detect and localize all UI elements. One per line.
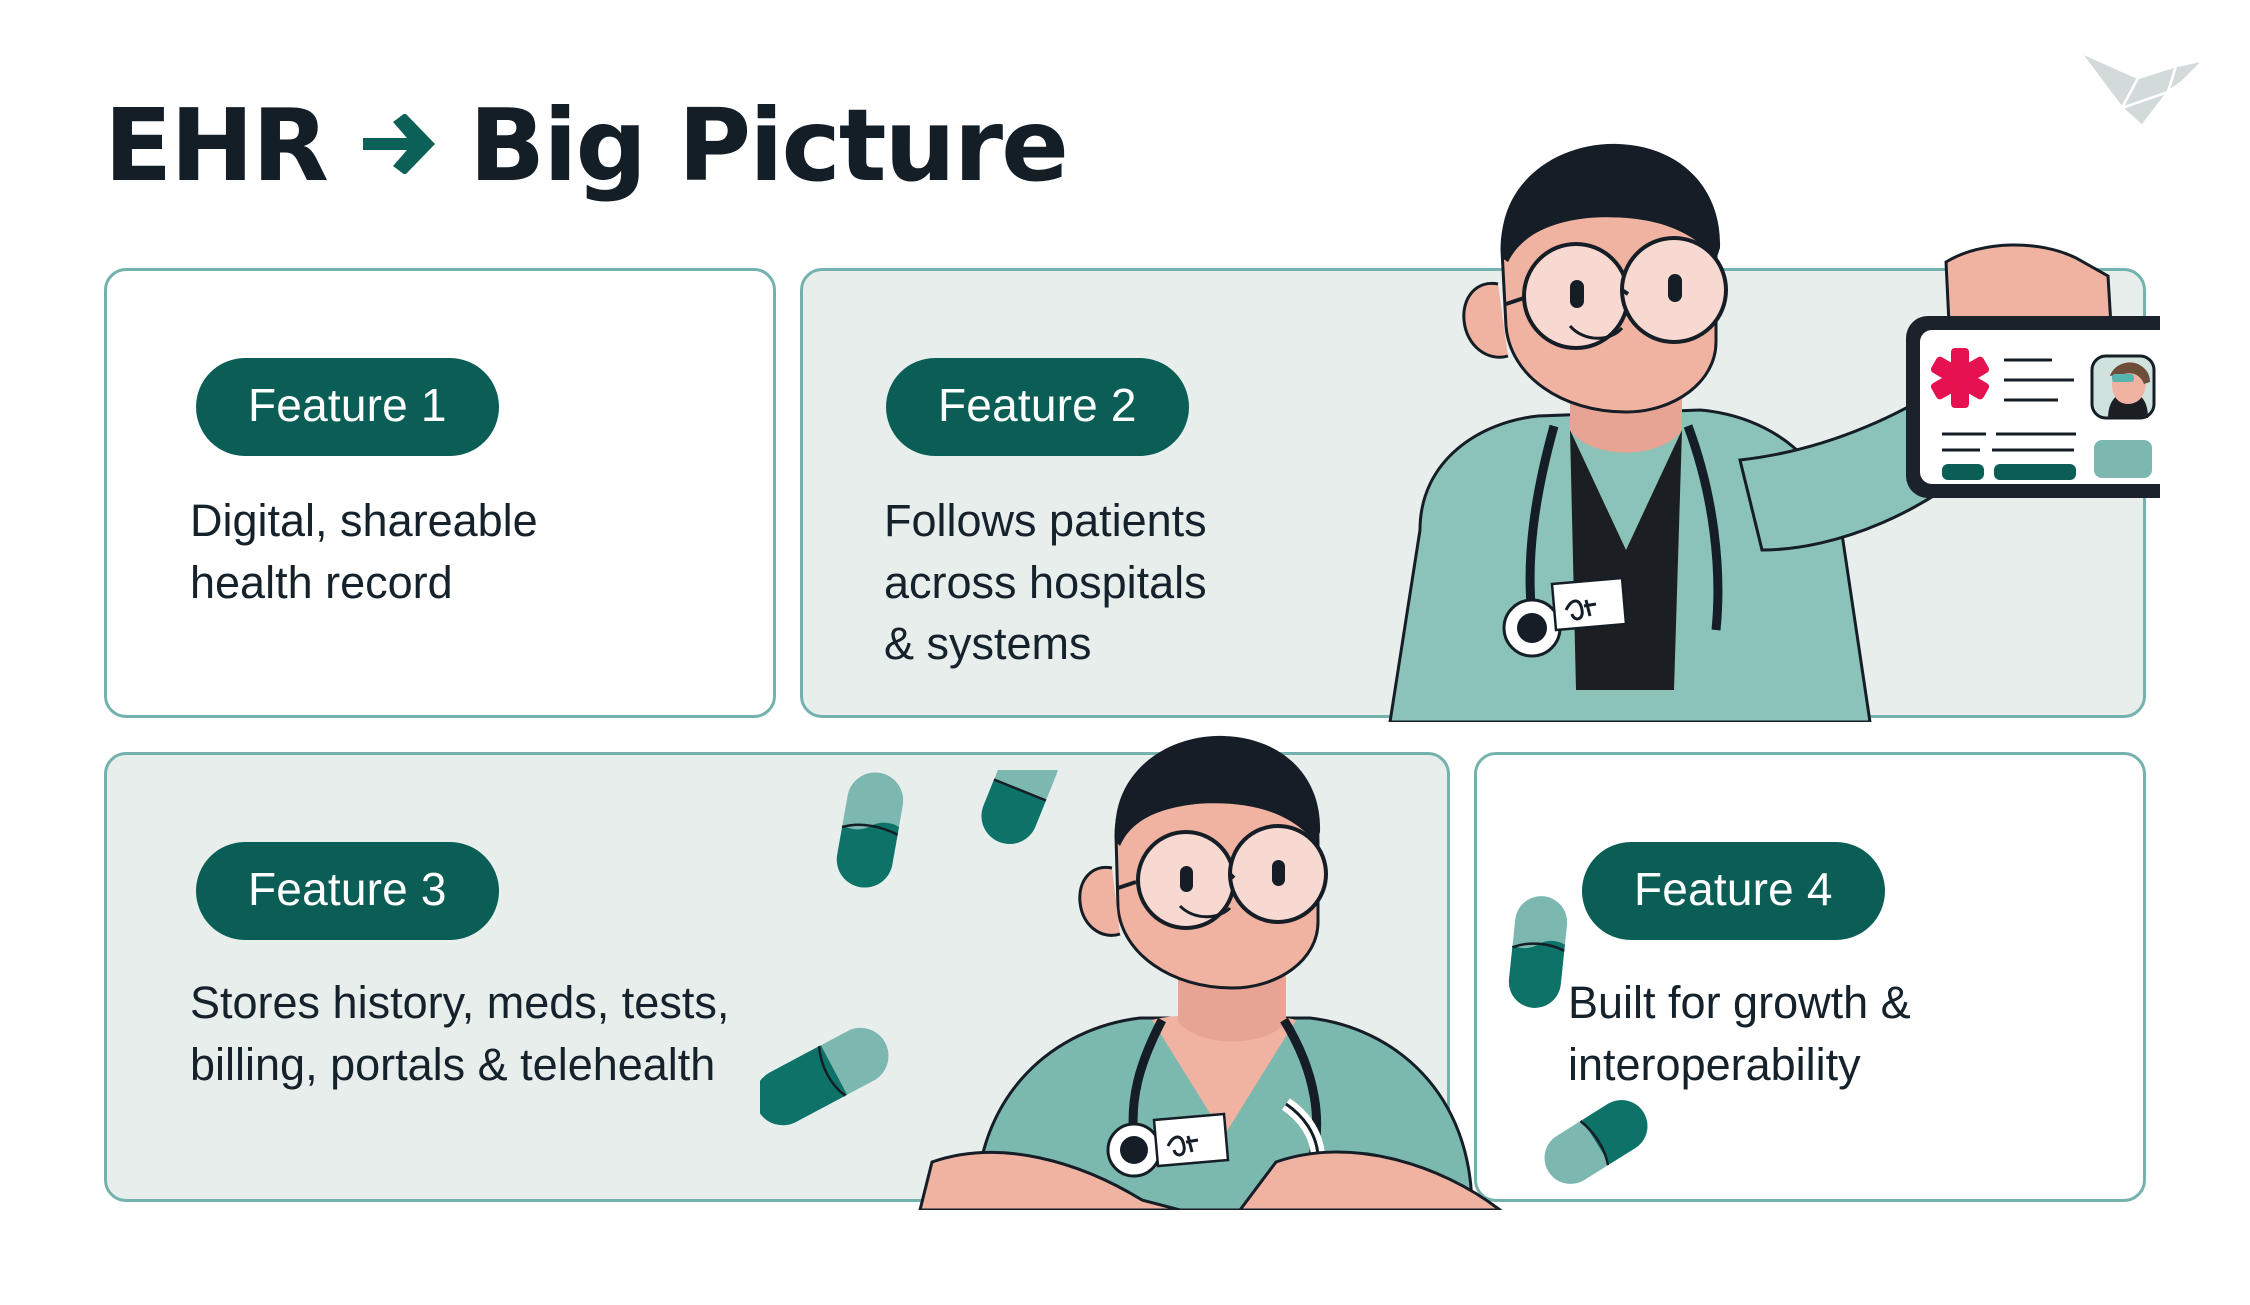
feature-1-badge[interactable]: Feature 1 <box>196 358 499 456</box>
feature-3-badge[interactable]: Feature 3 <box>196 842 499 940</box>
origami-bird-logo <box>2072 22 2212 132</box>
feature-1-description: Digital, shareable health record <box>190 490 750 613</box>
slide-canvas: EHR Big Picture <box>0 0 2250 1305</box>
feature-4-description: Built for growth & interoperability <box>1568 972 2038 1095</box>
title-left-word: EHR <box>104 96 327 196</box>
page-title: EHR Big Picture <box>104 96 1067 196</box>
feature-2-badge[interactable]: Feature 2 <box>886 358 1189 456</box>
feature-4-badge[interactable]: Feature 4 <box>1582 842 1885 940</box>
arrow-right-icon <box>361 114 435 179</box>
feature-3-description: Stores history, meds, tests, billing, po… <box>190 972 870 1095</box>
title-right-word: Big Picture <box>469 96 1067 196</box>
feature-2-description: Follows patients across hospitals & syst… <box>884 490 1314 675</box>
